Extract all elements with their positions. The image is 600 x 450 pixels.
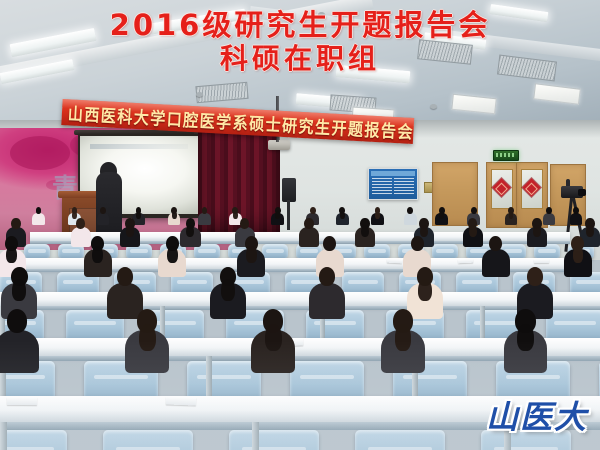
- smoke-detector-icon: [318, 12, 325, 17]
- audience-member: [32, 206, 45, 225]
- projection-screen-content: [90, 144, 188, 149]
- audience-member-hair: [375, 211, 380, 219]
- audience-member-hair: [265, 324, 282, 351]
- desk-paper: [166, 396, 196, 405]
- ceiling-air-grille: [497, 55, 557, 82]
- desk-row: [0, 396, 600, 422]
- audience-member: [355, 216, 375, 247]
- audience-member-head: [319, 267, 336, 286]
- audience-member-head: [471, 207, 477, 214]
- audience-member: [210, 264, 246, 319]
- audience-member-body: [482, 249, 510, 277]
- lecture-seat: [432, 244, 458, 258]
- ceiling-light: [490, 4, 549, 22]
- audience-member: [271, 206, 284, 225]
- ceiling-air-grille: [417, 39, 473, 65]
- audience-member-head: [411, 236, 424, 251]
- lecture-seat: [0, 430, 67, 450]
- audience-member-head: [11, 218, 20, 229]
- audience-member: [120, 216, 140, 247]
- ceiling-light: [336, 65, 411, 83]
- audience-member: [0, 306, 39, 373]
- audience-member-head: [117, 267, 134, 286]
- audience-member: [168, 206, 181, 225]
- ceiling-panel: [451, 94, 496, 115]
- lecture-seat: [481, 430, 571, 450]
- audience-member-head: [407, 207, 413, 214]
- audience-member-hair: [92, 246, 103, 263]
- notice-board-text: [372, 178, 392, 196]
- lecture-seat: [355, 430, 445, 450]
- audience-member-head: [573, 207, 579, 214]
- desk-paper: [458, 259, 473, 264]
- camera-lens-icon: [578, 189, 586, 196]
- lecture-seat: [229, 430, 319, 450]
- desk-paper: [7, 397, 37, 405]
- audience-member-head: [304, 218, 313, 229]
- audience-member-head: [489, 236, 502, 251]
- desk-leg: [206, 356, 212, 398]
- audience-member-hair: [126, 225, 134, 238]
- smoke-detector-icon: [430, 104, 437, 109]
- ceiling-air-grille: [195, 82, 248, 103]
- loudspeaker-stand: [287, 200, 290, 230]
- audience-member-head: [240, 218, 249, 229]
- desk-leg: [252, 422, 259, 450]
- audience-member: [482, 234, 510, 277]
- audience-member-head: [323, 236, 336, 251]
- audience-member-hair: [172, 211, 177, 219]
- audience-member: [527, 216, 547, 247]
- lecture-seat: [103, 430, 193, 450]
- audience-member-hair: [418, 279, 432, 301]
- backdrop-splash: [10, 136, 70, 170]
- audience-member-head: [76, 218, 85, 229]
- audience-member-hair: [340, 211, 345, 219]
- audience-member-head: [527, 267, 544, 286]
- audience-member-body: [309, 283, 345, 319]
- ceiling-panel: [533, 83, 581, 104]
- audience-member-hair: [246, 246, 257, 263]
- desk-paper: [387, 259, 402, 264]
- desk-leg: [504, 422, 511, 450]
- audience-member: [381, 306, 425, 373]
- audience-member: [504, 306, 548, 373]
- audience-member: [158, 234, 186, 277]
- loudspeaker: [282, 178, 296, 202]
- audience-member-head: [36, 207, 42, 214]
- audience-member-hair: [275, 211, 280, 219]
- audience-member-hair: [361, 225, 369, 238]
- audience-member: [505, 206, 518, 225]
- notice-board-header: [371, 171, 415, 176]
- audience-member: [309, 264, 345, 319]
- audience-member-hair: [469, 225, 477, 238]
- audience-member-hair: [139, 324, 156, 351]
- audience-member-head: [202, 207, 208, 214]
- lecture-seat: [262, 244, 288, 258]
- audience-member: [97, 206, 110, 225]
- desk-row: [0, 292, 600, 306]
- audience-member: [125, 306, 169, 373]
- audience-member-head: [7, 309, 27, 333]
- smoke-detector-icon: [196, 92, 203, 97]
- audience-member: [435, 206, 448, 225]
- audience-member: [251, 306, 295, 373]
- audience-member-body: [0, 330, 39, 374]
- audience-member-body: [32, 213, 45, 226]
- audience-member-hair: [395, 324, 412, 351]
- audience-member-hair: [517, 324, 534, 351]
- lecture-seat: [24, 244, 50, 258]
- audience-member-hair: [439, 211, 444, 219]
- audience-member-head: [100, 207, 106, 214]
- audience-member-hair: [12, 279, 26, 301]
- audience-member-hair: [533, 225, 541, 238]
- desk-paper: [534, 259, 549, 263]
- exit-sign-icon: [493, 150, 519, 161]
- audience-member-hair: [186, 225, 194, 238]
- wall-notice-board: [368, 168, 418, 200]
- photo-canvas: 青 山西医科大学口腔医学系硕士研究生开题报告会: [0, 0, 600, 450]
- audience-member-hair: [221, 279, 235, 301]
- audience-member-hair: [573, 246, 584, 263]
- audience-member-hair: [509, 211, 514, 219]
- audience-member-head: [310, 207, 316, 214]
- audience-member: [463, 216, 483, 247]
- audience-member: [564, 234, 592, 277]
- desk-leg: [480, 306, 485, 338]
- audience-member-body: [97, 213, 110, 226]
- audience-member-head: [546, 207, 552, 214]
- audience-member-hair: [167, 246, 178, 263]
- audience-member: [336, 206, 349, 225]
- audience-member-hair: [6, 246, 17, 263]
- notice-board-text: [394, 178, 414, 196]
- desk-leg: [0, 422, 7, 450]
- ceiling-projector: [268, 140, 290, 150]
